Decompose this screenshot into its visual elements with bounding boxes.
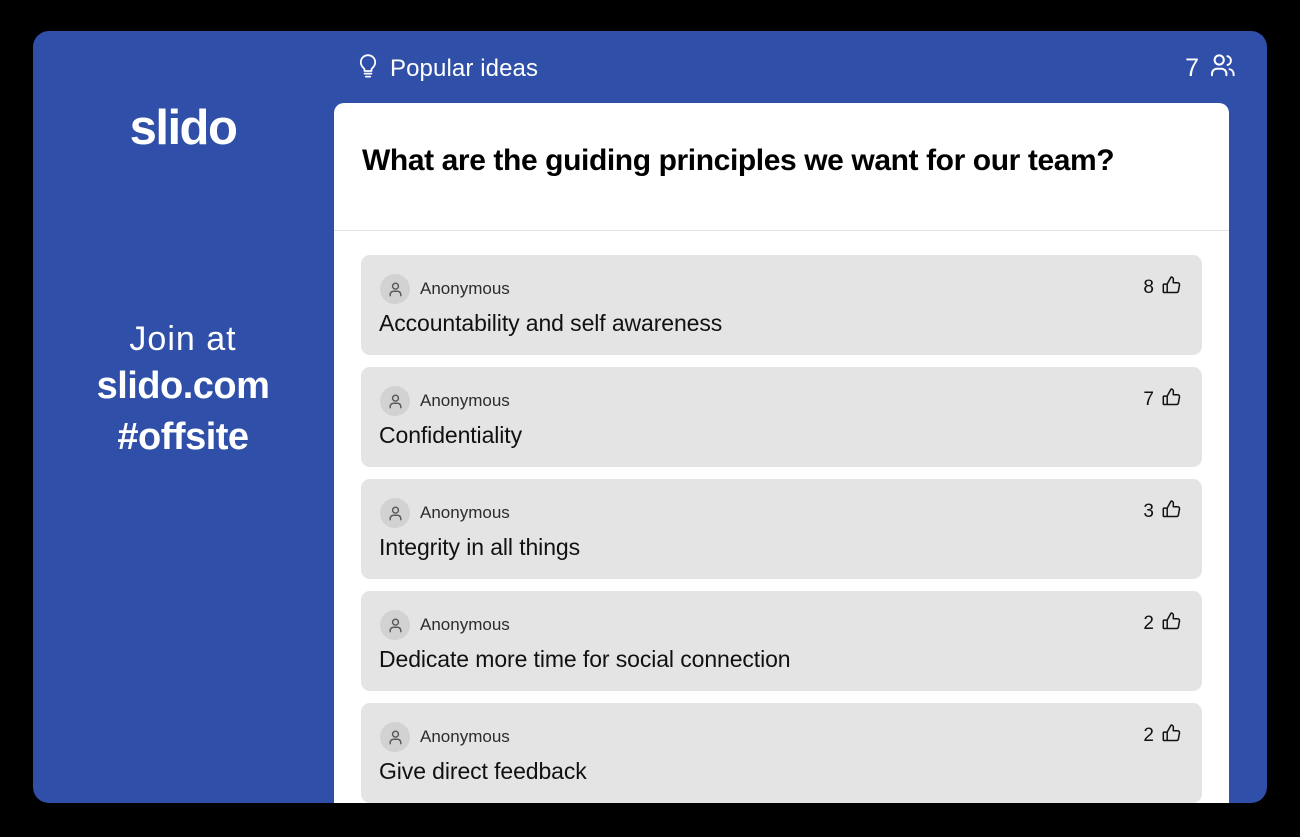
thumbs-up-icon[interactable] [1161,723,1182,749]
content-panel: What are the guiding principles we want … [334,103,1229,803]
idea-vote-count: 7 [1143,389,1154,411]
slido-logo: slido [33,104,333,153]
idea-vote-group[interactable]: 7 [1143,387,1182,413]
idea-author-row: Anonymous [380,386,510,416]
idea-vote-count: 3 [1143,501,1154,523]
idea-vote-group[interactable]: 2 [1143,723,1182,749]
idea-author: Anonymous [420,279,510,299]
idea-author: Anonymous [420,615,510,635]
join-at-label: Join at [33,318,333,361]
avatar [380,610,410,640]
idea-text: Accountability and self awareness [379,310,1142,337]
idea-author-row: Anonymous [380,722,510,752]
users-icon [1209,53,1237,83]
mode-indicator: Popular ideas [357,53,538,84]
idea-text: Integrity in all things [379,534,1142,561]
mode-label: Popular ideas [390,55,538,83]
idea-author-row: Anonymous [380,274,510,304]
idea-author-row: Anonymous [380,610,510,640]
idea-author: Anonymous [420,391,510,411]
thumbs-up-icon[interactable] [1161,499,1182,525]
top-bar: Popular ideas 7 [333,31,1267,103]
idea-vote-group[interactable]: 8 [1143,275,1182,301]
lightbulb-icon [357,53,379,84]
idea-author-row: Anonymous [380,498,510,528]
join-event-code: #offsite [33,412,333,463]
idea-card[interactable]: Anonymous 3 Integrity in all things [361,479,1202,579]
device-frame: slido Join at slido.com #offsite Popular… [0,0,1300,837]
idea-card[interactable]: Anonymous 8 Accountability and self awar… [361,255,1202,355]
join-instructions: Join at slido.com #offsite [33,318,333,463]
idea-author: Anonymous [420,503,510,523]
idea-vote-group[interactable]: 2 [1143,611,1182,637]
idea-vote-count: 8 [1143,277,1154,299]
idea-author: Anonymous [420,727,510,747]
idea-card[interactable]: Anonymous 2 Give direct feedback [361,703,1202,803]
participants-count: 7 [1185,54,1199,83]
participants-counter: 7 [1185,53,1237,83]
presentation-screen: slido Join at slido.com #offsite Popular… [33,31,1267,803]
idea-card[interactable]: Anonymous 2 Dedicate more time for socia… [361,591,1202,691]
avatar [380,722,410,752]
idea-text: Confidentiality [379,422,1142,449]
idea-card[interactable]: Anonymous 7 Confidentiality [361,367,1202,467]
idea-vote-count: 2 [1143,725,1154,747]
question-header: What are the guiding principles we want … [334,103,1229,231]
join-domain: slido.com [33,361,333,412]
idea-vote-count: 2 [1143,613,1154,635]
idea-text: Give direct feedback [379,758,1142,785]
thumbs-up-icon[interactable] [1161,387,1182,413]
question-title: What are the guiding principles we want … [362,143,1189,179]
avatar [380,386,410,416]
thumbs-up-icon[interactable] [1161,611,1182,637]
idea-vote-group[interactable]: 3 [1143,499,1182,525]
avatar [380,498,410,528]
avatar [380,274,410,304]
idea-text: Dedicate more time for social connection [379,646,1142,673]
ideas-list[interactable]: Anonymous 8 Accountability and self awar… [334,232,1229,803]
thumbs-up-icon[interactable] [1161,275,1182,301]
sidebar: slido Join at slido.com #offsite [33,31,333,803]
